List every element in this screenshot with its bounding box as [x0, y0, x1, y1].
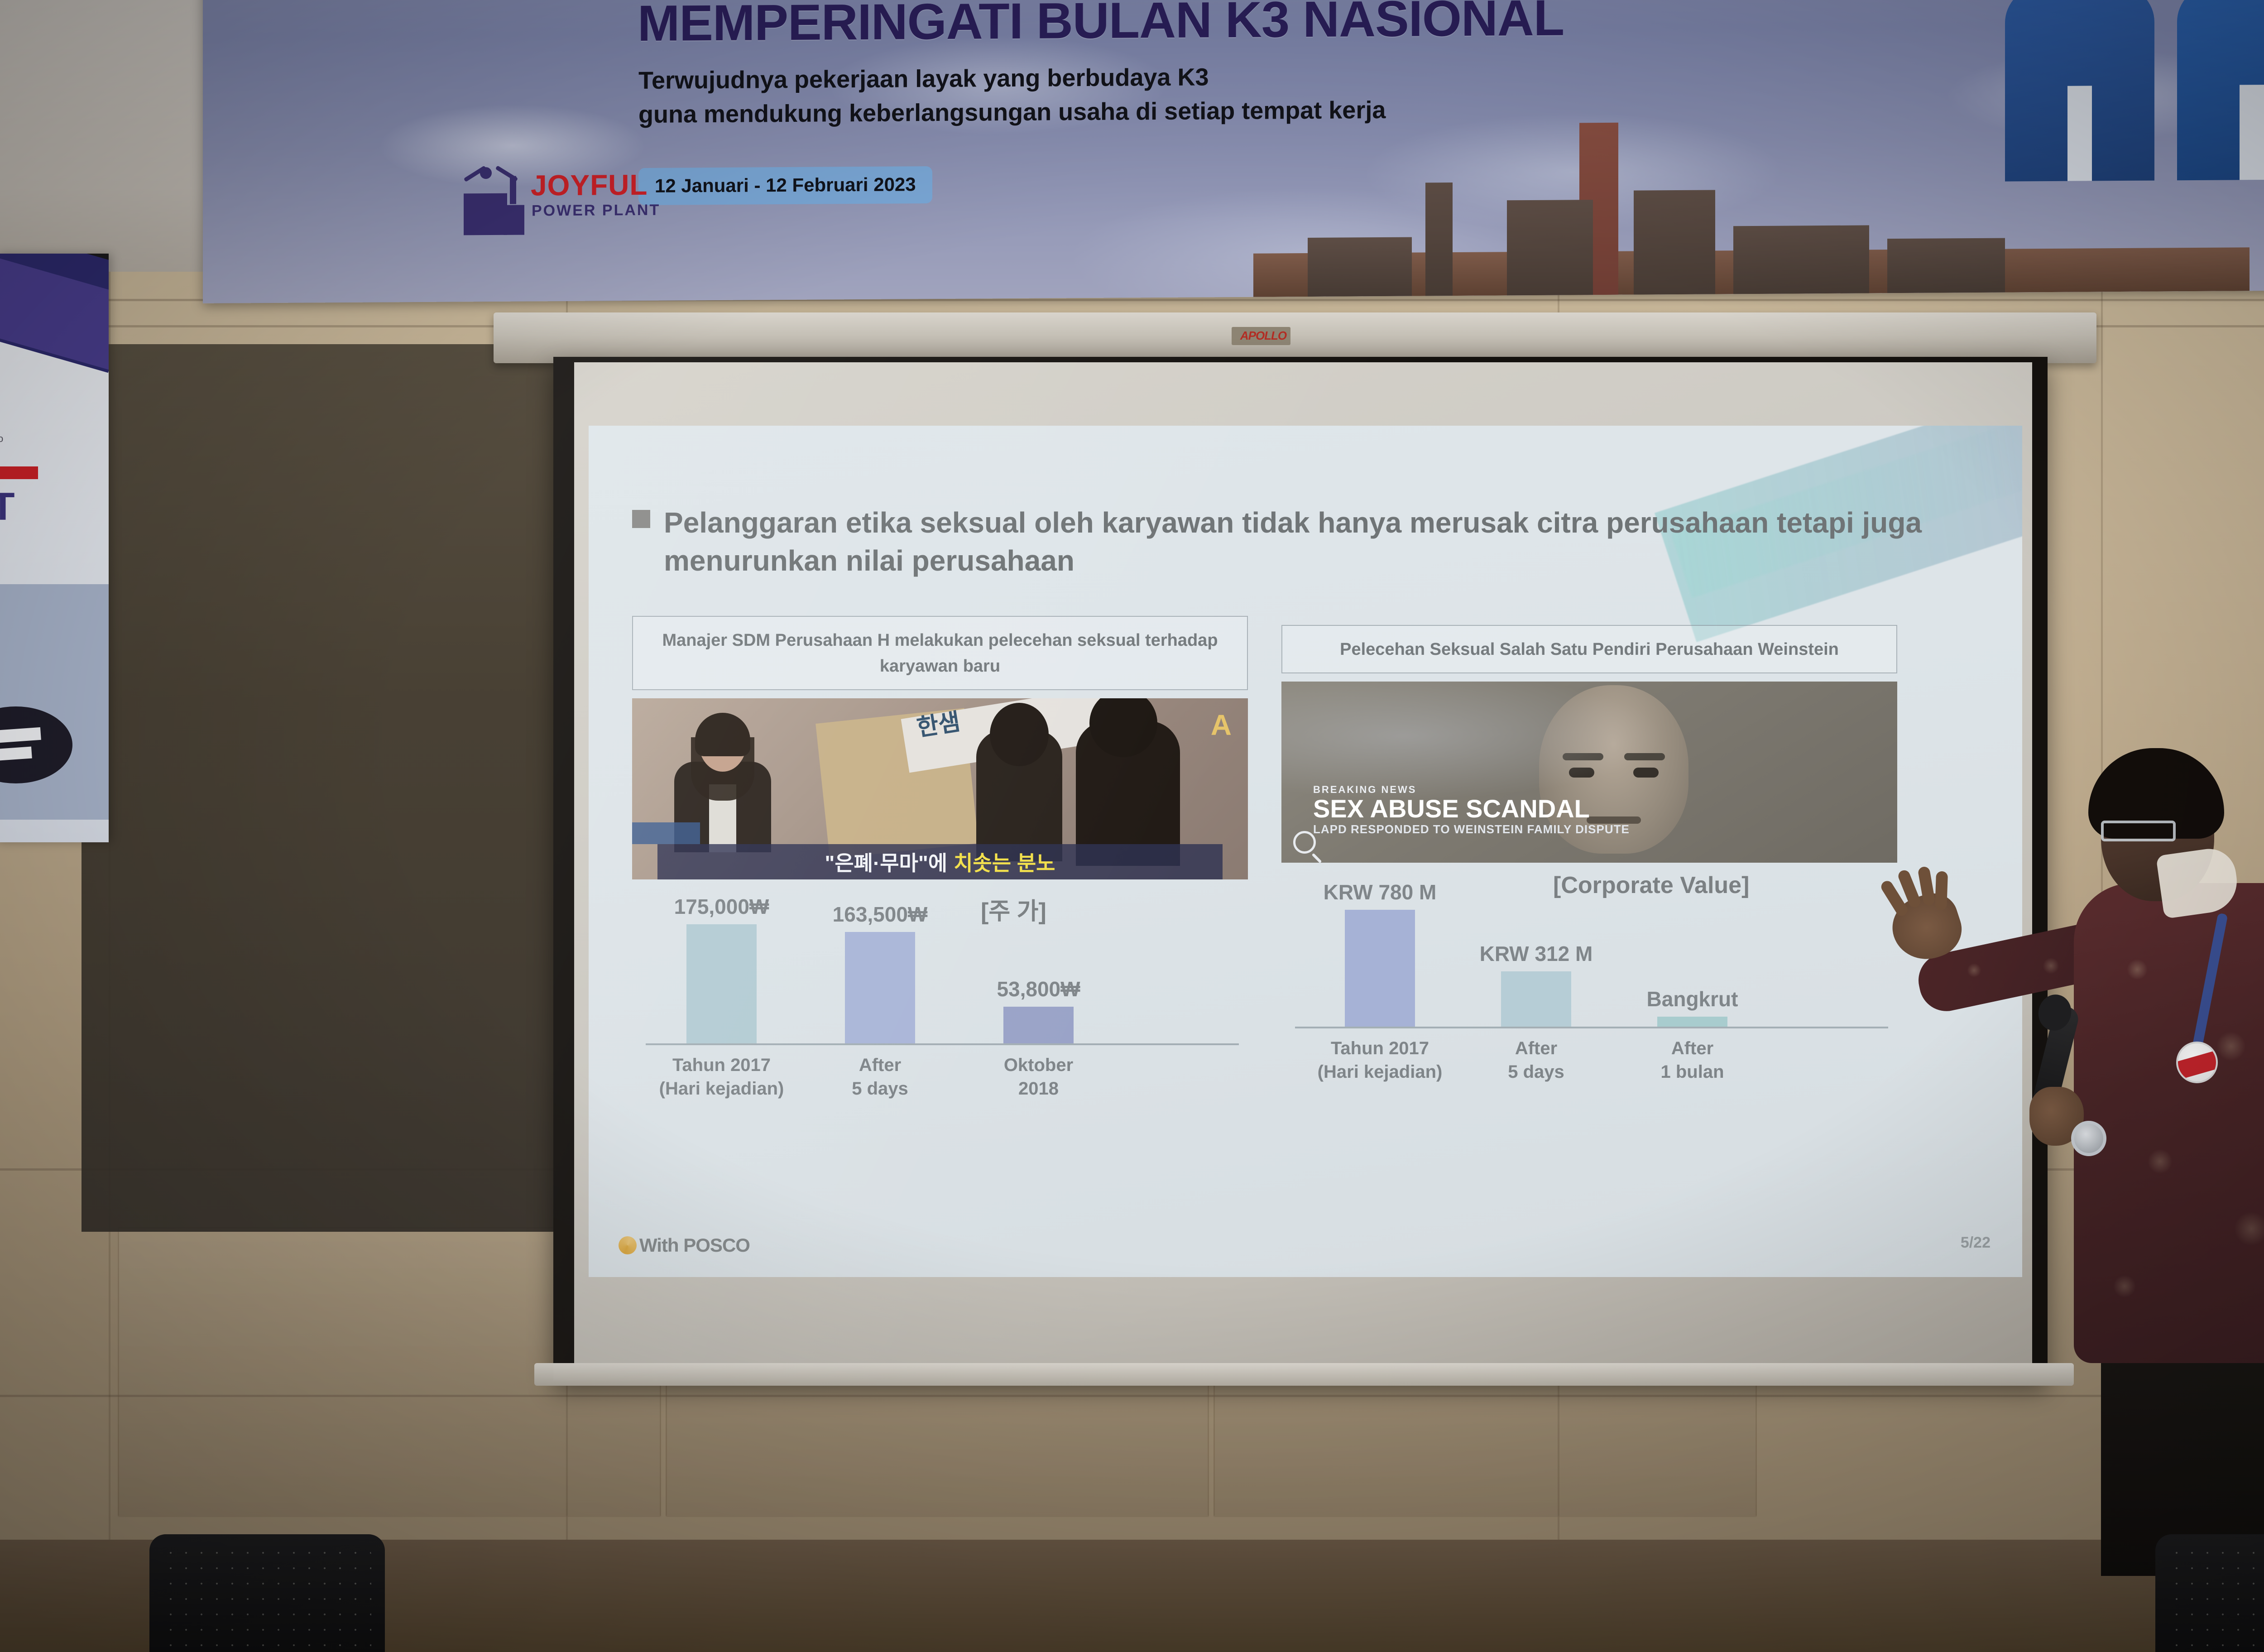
chyron-headline-white: "은폐·무마"에 [825, 847, 948, 877]
bullet-square-icon [632, 510, 650, 528]
bar-category-label: Tahun 2017 (Hari kejadian) [659, 1053, 784, 1100]
joyful-logo-word2: POWER PLANT [532, 202, 660, 220]
chair-right [2155, 1534, 2264, 1652]
left-panel: Manajer SDM Perusahaan H melakukan pelec… [632, 616, 1248, 1086]
magnifier-icon [1293, 831, 1316, 854]
bar-category-label: After 1 bulan [1660, 1037, 1724, 1084]
bar-value-label: KRW 780 M [1324, 880, 1437, 904]
chyron-headline-yellow: 치솟는 분노 [954, 847, 1055, 877]
bar-value-label: 163,500₩ [833, 902, 928, 927]
joyful-power-plant-logo: JOYFUL POWER PLANT [456, 158, 674, 250]
bar: 53,800₩ Oktober 2018 [1003, 1007, 1074, 1043]
bar-group: Bangkrut After 1 bulan [1657, 1017, 1727, 1027]
corporate-value-chart: [Corporate Value] KRW 780 M Tahun 2017 (… [1281, 874, 1897, 1069]
projected-slide: Pelanggaran etika seksual oleh karyawan … [589, 426, 2022, 1277]
x-axis-line [1295, 1027, 1888, 1028]
presenter [1906, 706, 2264, 1567]
apollo-brand-label: APOLLO [1238, 329, 1288, 343]
bar: KRW 780 M Tahun 2017 (Hari kejadian) [1345, 910, 1415, 1027]
wristwatch [2071, 1121, 2106, 1156]
bar-category-label: After 5 days [852, 1053, 908, 1100]
corporate-value-plot: KRW 780 M Tahun 2017 (Hari kejadian) KRW… [1295, 893, 1888, 1028]
left-panel-caption: Manajer SDM Perusahaan H melakukan pelec… [632, 616, 1248, 690]
broadcaster-logo-icon: A [1211, 708, 1232, 742]
bar-group: 53,800₩ Oktober 2018 [1003, 1007, 1074, 1043]
posco-mark-icon [619, 1236, 637, 1254]
slide-two-column-layout: Manajer SDM Perusahaan H melakukan pelec… [632, 616, 1981, 1086]
standing-rollup-banner: co T [0, 254, 109, 842]
news-ticker-tag [632, 822, 700, 844]
banner-subtitle: Terwujudnya pekerjaan layak yang berbuda… [638, 57, 1725, 131]
round-badge [2176, 1042, 2218, 1083]
joyful-logo-word1: JOYFUL [531, 168, 648, 202]
bar-category-label: Oktober 2018 [1004, 1053, 1073, 1100]
presenter-batik-shirt [2074, 883, 2264, 1363]
dark-wall-recess [82, 344, 561, 1232]
store-sign-text: 한샘 [914, 702, 962, 743]
weinstein-news-image: BREAKING NEWS SEX ABUSE SCANDAL LAPD RES… [1281, 682, 1897, 863]
breaking-news-subline: LAPD RESPONDED TO WEINSTEIN FAMILY DISPU… [1313, 822, 1870, 836]
right-panel: Pelecehan Seksual Salah Satu Pendiri Per… [1281, 616, 1897, 1086]
glasses-icon [2101, 821, 2176, 841]
slide-bullet: Pelanggaran etika seksual oleh karyawan … [632, 504, 1927, 580]
bar: Bangkrut After 1 bulan [1657, 1017, 1727, 1027]
bar-category-label: After 5 days [1508, 1037, 1564, 1084]
stock-price-plot: 175,000₩ Tahun 2017 (Hari kejadian) 163,… [646, 909, 1239, 1045]
bar-value-label: Bangkrut [1647, 987, 1738, 1011]
korean-news-image: 한샘 A "은폐·무마"에 [632, 698, 1248, 879]
chair-left [149, 1534, 385, 1652]
bar: 163,500₩ After 5 days [845, 932, 915, 1043]
person-on-building-icon [456, 167, 524, 235]
person-head-2 [990, 703, 1049, 766]
presentation-room-photo: co T MEMPERINGATI BULAN K3 NASIONAL Terw… [0, 0, 2264, 1652]
breaking-news-banner: BREAKING NEWS SEX ABUSE SCANDAL LAPD RES… [1313, 784, 1870, 836]
banner-subtitle-line2: guna mendukung keberlangsungan usaha di … [638, 91, 1725, 131]
bar-category-label: Tahun 2017 (Hari kejadian) [1318, 1037, 1443, 1084]
with-posco-logo: With POSCO [619, 1234, 750, 1256]
bar: 175,000₩ Tahun 2017 (Hari kejadian) [686, 924, 757, 1043]
right-panel-caption: Pelecehan Seksual Salah Satu Pendiri Per… [1281, 625, 1897, 673]
bar-group: 163,500₩ After 5 days [845, 932, 915, 1043]
projector-screen-bottom-bar [534, 1363, 2074, 1386]
breaking-news-headline: SEX ABUSE SCANDAL [1313, 796, 1870, 822]
bar: KRW 312 M After 5 days [1501, 971, 1571, 1027]
projector-screen-housing [494, 312, 2096, 363]
with-posco-text: With POSCO [639, 1234, 750, 1256]
bar-value-label: KRW 312 M [1480, 941, 1593, 966]
banner-date-badge: 12 Januari - 12 Februari 2023 [638, 166, 932, 205]
slide-bullet-text: Pelanggaran etika seksual oleh karyawan … [664, 504, 1927, 580]
bar-group: KRW 312 M After 5 days [1501, 971, 1571, 1027]
banner-title: MEMPERINGATI BULAN K3 NASIONAL [638, 0, 1896, 53]
x-axis-line [646, 1043, 1239, 1045]
bar-value-label: 53,800₩ [997, 977, 1080, 1001]
stock-price-chart: [주 가] 175,000₩ Tahun 2017 (Hari kejadian… [632, 891, 1248, 1086]
banner-people-photo [2005, 0, 2264, 182]
bar-value-label: 175,000₩ [674, 894, 769, 919]
event-banner: MEMPERINGATI BULAN K3 NASIONAL Terwujudn… [203, 0, 2264, 303]
bar-group: KRW 780 M Tahun 2017 (Hari kejadian) [1345, 910, 1415, 1027]
bar-group: 175,000₩ Tahun 2017 (Hari kejadian) [686, 924, 757, 1043]
news-chyron: "은폐·무마"에 치솟는 분노 [657, 844, 1223, 879]
